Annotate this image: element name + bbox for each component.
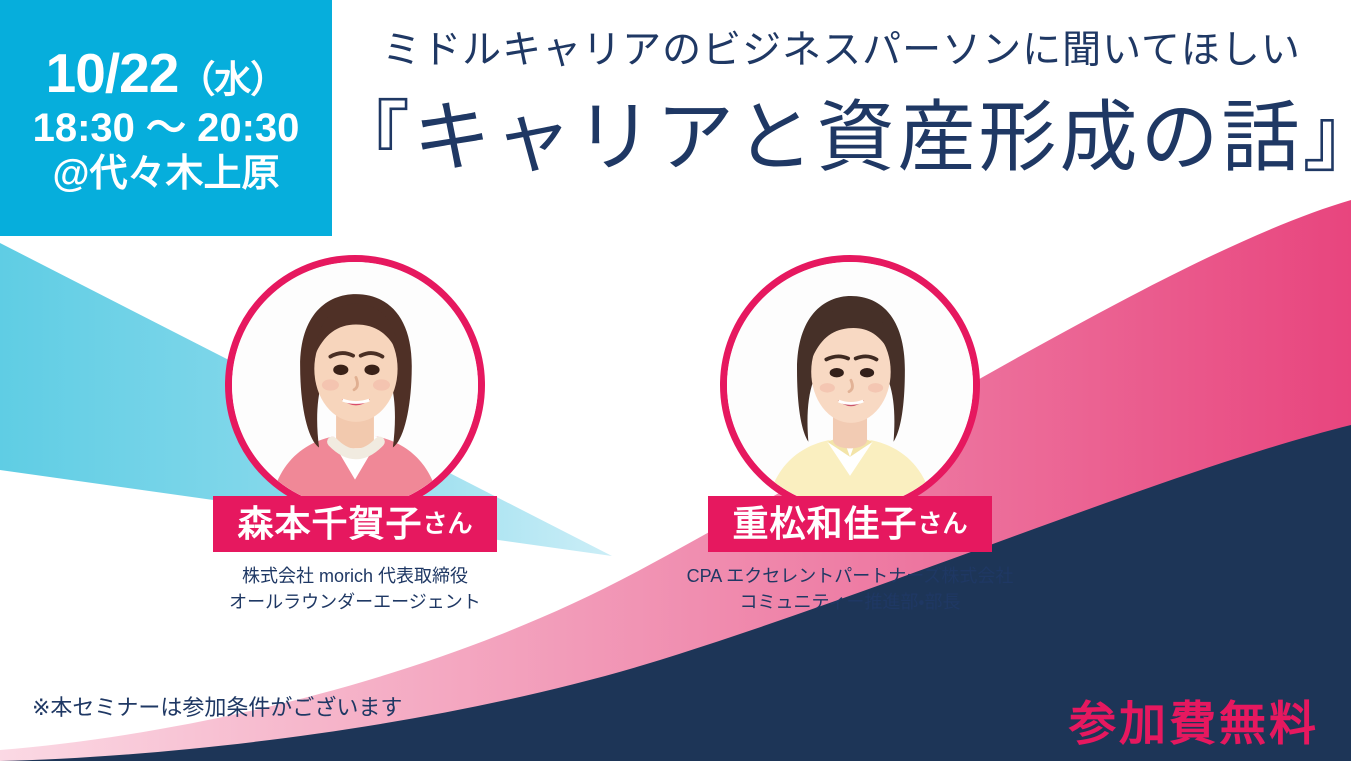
event-title: 『キャリアと資産形成の話』: [332, 89, 1351, 187]
speaker-card-2: 重松和佳子さん CPA エクセレントパートナーズ株式会社 コミュニティー推進部・…: [645, 255, 1055, 615]
speaker-honorific-2: さん: [918, 510, 968, 538]
participation-note: ※本セミナーは参加条件がございます: [32, 690, 402, 722]
event-time: 18:30 ～ 20:30: [33, 105, 300, 151]
speaker-affiliation-1-line1: 株式会社 morich 代表取締役: [150, 563, 560, 589]
speaker-portrait-1: [225, 255, 485, 515]
headline-block: ミドルキャリアのビジネスパーソンに聞いてほしい 『キャリアと資産形成の話』: [332, 28, 1351, 186]
speaker-honorific-1: さん: [423, 510, 473, 538]
speaker-name-1: 森本千賀子: [237, 503, 422, 544]
event-date-block: 10/22（水） 18:30 ～ 20:30 @代々木上原: [0, 0, 332, 236]
speaker-name-2: 重松和佳子: [732, 503, 917, 544]
speaker-affiliation-2: CPA エクセレントパートナーズ株式会社 コミュニティー推進部・部長: [645, 563, 1055, 615]
speaker-card-1: 森本千賀子さん 株式会社 morich 代表取締役 オールラウンダーエージェント: [150, 255, 560, 615]
speaker-affiliation-1-line2: オールラウンダーエージェント: [150, 589, 560, 615]
speaker-name-banner-2: 重松和佳子さん: [708, 496, 991, 552]
portrait-illustration-1: [232, 262, 478, 508]
speaker-name-banner-1: 森本千賀子さん: [213, 496, 496, 552]
speaker-affiliation-2-line1: CPA エクセレントパートナーズ株式会社: [645, 563, 1055, 589]
seminar-poster: 10/22（水） 18:30 ～ 20:30 @代々木上原 ミドルキャリアのビジ…: [0, 0, 1351, 761]
event-date-number: 10/22: [46, 42, 179, 104]
event-place: @代々木上原: [52, 153, 279, 197]
event-weekday: （水）: [178, 59, 286, 100]
event-subtitle: ミドルキャリアのビジネスパーソンに聞いてほしい: [332, 28, 1351, 75]
speaker-affiliation-2-line2: コミュニティー推進部・部長: [645, 589, 1055, 615]
free-admission-badge: 参加費無料: [1069, 685, 1319, 754]
event-date: 10/22（水）: [46, 45, 287, 103]
speaker-affiliation-1: 株式会社 morich 代表取締役 オールラウンダーエージェント: [150, 563, 560, 615]
portrait-illustration-2: [727, 262, 973, 508]
speaker-portrait-2: [720, 255, 980, 515]
